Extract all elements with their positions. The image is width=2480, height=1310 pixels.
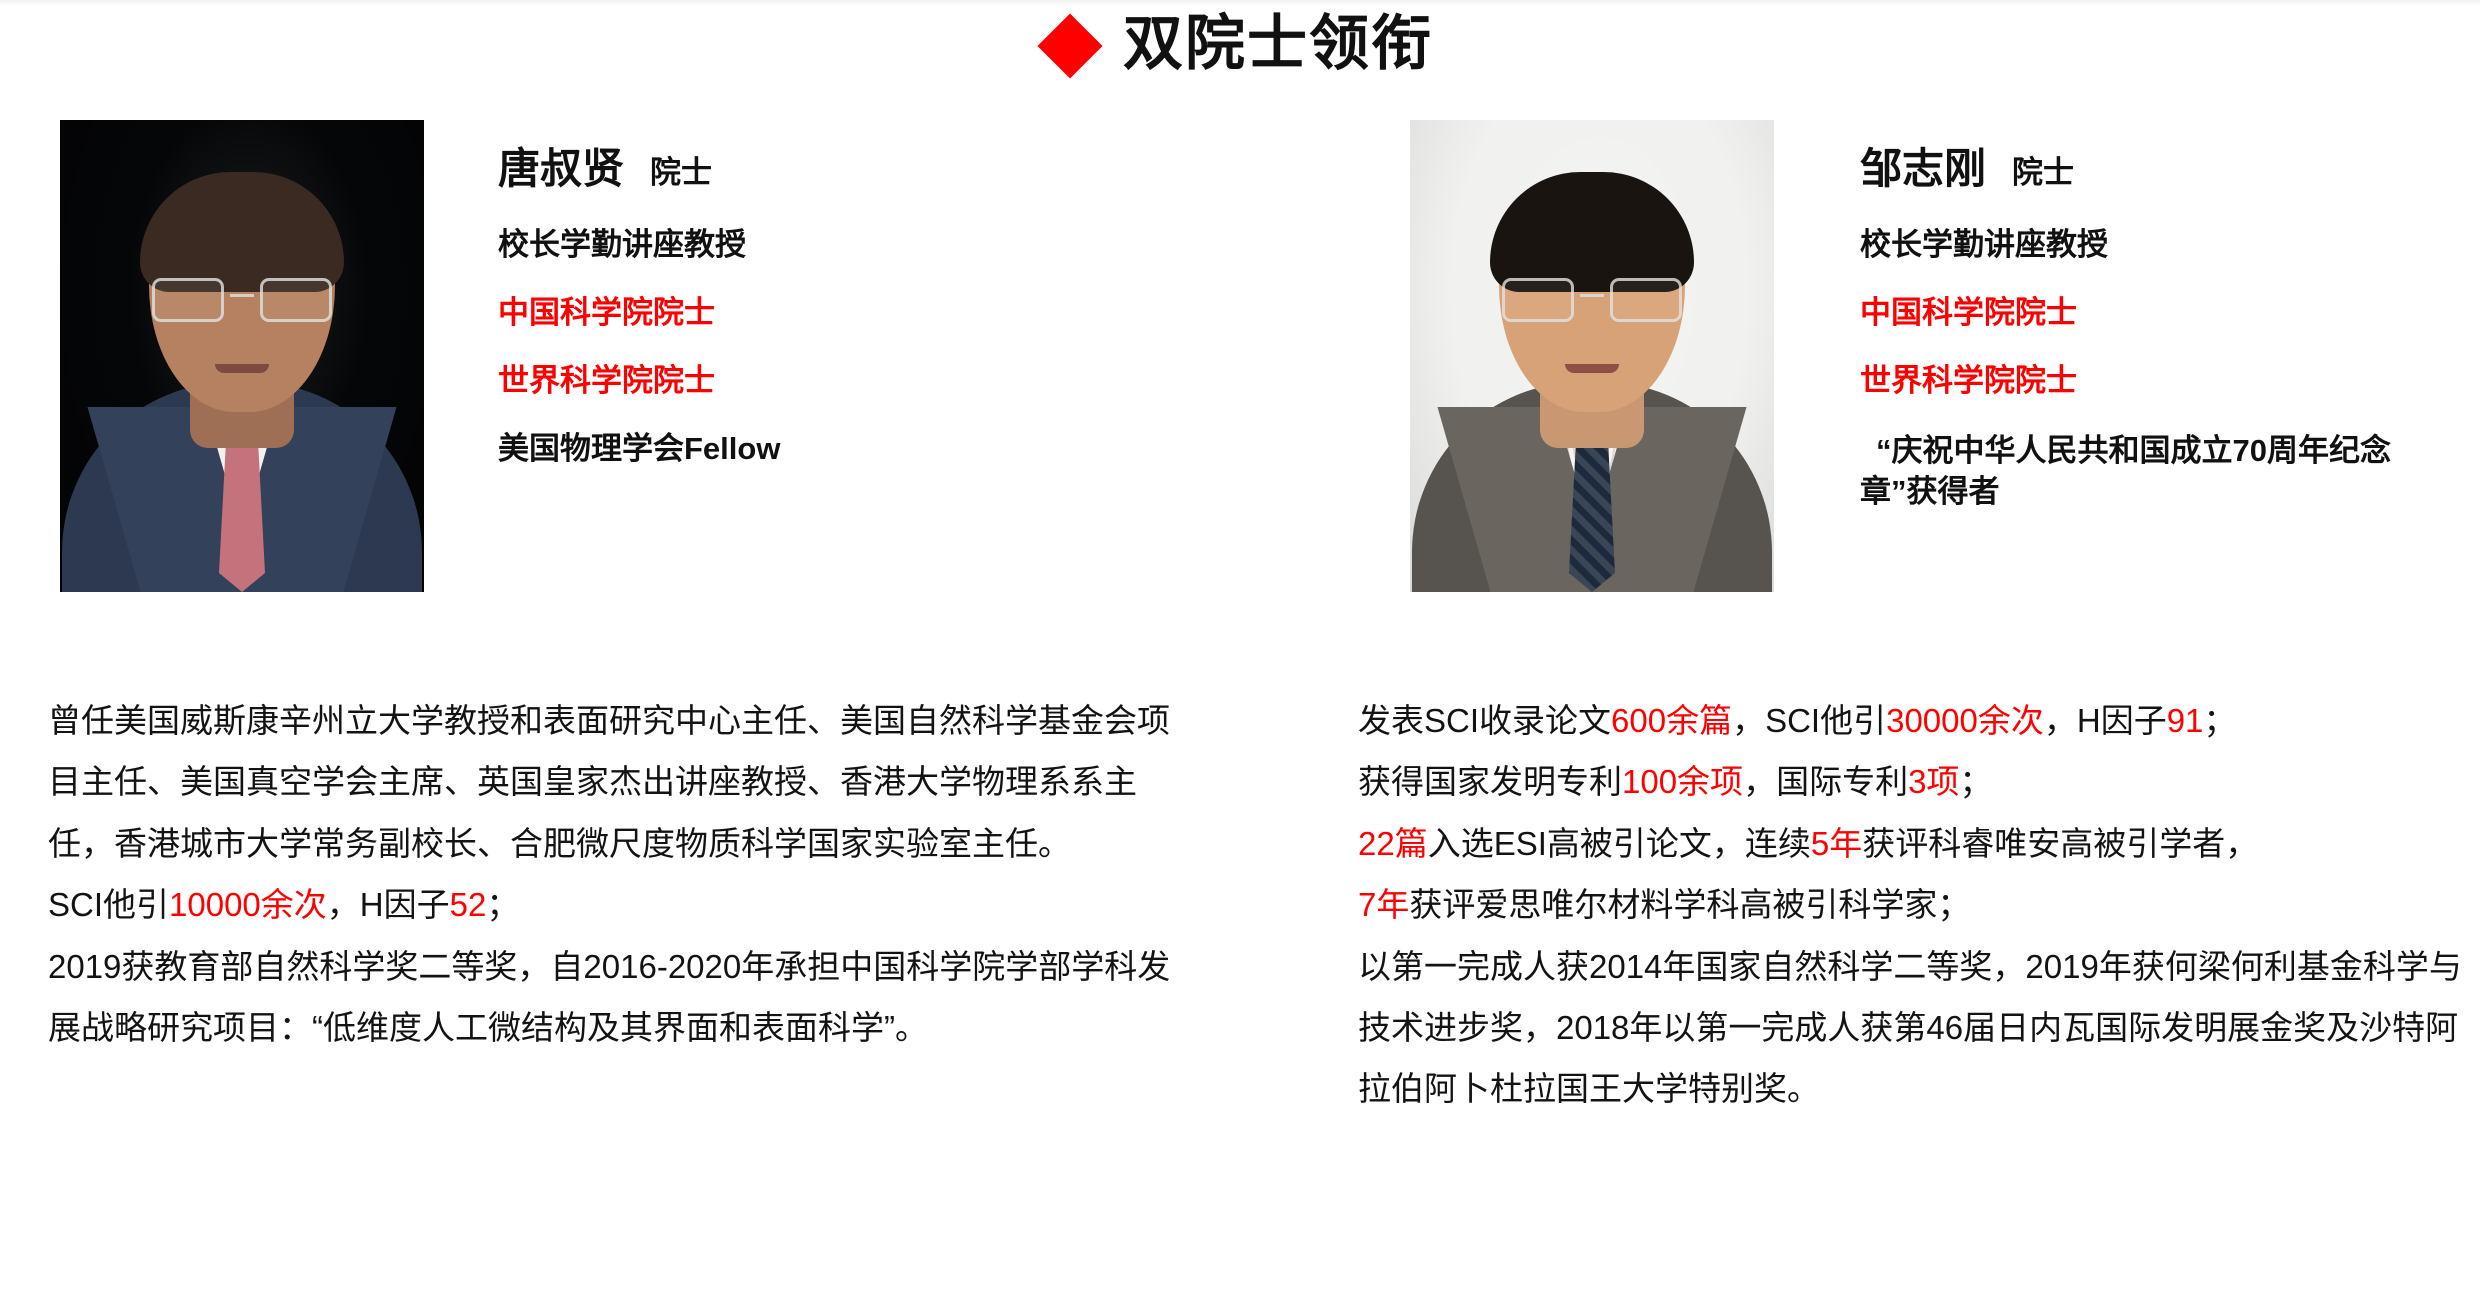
photo-necktie [1569, 434, 1615, 592]
bio-text-run: ，国际专利 [1743, 763, 1908, 800]
bio-text-run: 600余篇 [1611, 702, 1732, 739]
bio-text-run: 100余项 [1622, 763, 1743, 800]
bio-text-run: 获评爱思唯尔材料学科高被引科学家； [1409, 886, 1970, 923]
photo-glasses-icon [150, 278, 334, 318]
person-name: 唐叔贤 [498, 146, 624, 192]
bio-text-run: ，H因子 [2044, 702, 2167, 739]
red-diamond-icon [1037, 13, 1102, 78]
bio-paragraph: 以第一完成人获2014年国家自然科学二等奖，2019年获何梁何利基金科学与技术进… [1358, 936, 2478, 1120]
bio-text-run: SCI他引 [48, 886, 169, 923]
bio-paragraph: SCI他引10000余次，H因子52； [48, 874, 1178, 935]
credential-line: 美国物理学会Fellow [498, 430, 780, 468]
biography-tang: 曾任美国威斯康辛州立大学教授和表面研究中心主任、美国自然科学基金会项目主任、美国… [48, 690, 1178, 1058]
bio-text-run: ； [2203, 702, 2236, 739]
credential-line: 校长学勤讲座教授 [498, 226, 780, 264]
photo-lens-right [260, 278, 332, 322]
bio-text-run: 入选ESI高被引论文，连续 [1428, 825, 1811, 862]
person-name-row: 邹志刚 院士 [1860, 146, 2420, 192]
photo-mouth [1565, 364, 1619, 373]
bio-paragraph: 22篇入选ESI高被引论文，连续5年获评科睿唯安高被引学者， [1358, 813, 2478, 874]
photo-glasses-bridge [1580, 294, 1604, 297]
photo-lens-left [1502, 278, 1574, 322]
bio-text-run: 30000余次 [1886, 702, 2044, 739]
slide-header: 双院士领衔 [0, 14, 2480, 74]
bio-text-run: 22篇 [1358, 825, 1428, 862]
credentials-zou: 邹志刚 院士 校长学勤讲座教授 中国科学院院士 世界科学院院士 “庆祝中华人民共… [1774, 120, 2420, 513]
credential-line: 中国科学院院士 [498, 294, 780, 332]
slide-root: 双院士领衔 [0, 0, 2480, 1310]
credential-line: “庆祝中华人民共和国成立70周年纪念章”获得者 [1860, 430, 2420, 513]
bio-text-run: ； [1959, 763, 1992, 800]
photo-mouth [215, 364, 269, 373]
photo-glasses-icon [1500, 278, 1684, 318]
credential-line: 世界科学院院士 [1860, 362, 2420, 400]
person-column-right: 邹志刚 院士 校长学勤讲座教授 中国科学院院士 世界科学院院士 “庆祝中华人民共… [1410, 120, 2470, 592]
person-name: 邹志刚 [1860, 146, 1986, 192]
bio-text-run: 7年 [1358, 886, 1409, 923]
bio-text-run: 5年 [1811, 825, 1862, 862]
credential-line: 世界科学院院士 [498, 362, 780, 400]
bio-text-run: ； [486, 886, 519, 923]
bio-text-run: 曾任美国威斯康辛州立大学教授和表面研究中心主任、美国自然科学基金会项目主任、美国… [48, 702, 1170, 862]
biography-zou: 发表SCI收录论文600余篇，SCI他引30000余次，H因子91；获得国家发明… [1358, 690, 2478, 1120]
person-name-row: 唐叔贤 院士 [498, 146, 780, 192]
bio-text-run: 10000余次 [169, 886, 327, 923]
bio-text-run: 3项 [1908, 763, 1959, 800]
bio-text-run: ，H因子 [327, 886, 450, 923]
bio-text-run: 52 [450, 886, 487, 923]
portrait-photo-tang [60, 120, 424, 592]
person-name-suffix: 院士 [650, 156, 712, 190]
profile-card-zou: 邹志刚 院士 校长学勤讲座教授 中国科学院院士 世界科学院院士 “庆祝中华人民共… [1410, 120, 2470, 592]
bio-text-run: 获评科睿唯安高被引学者， [1862, 825, 2258, 862]
bio-text-run: ，SCI他引 [1732, 702, 1886, 739]
page-title: 双院士领衔 [1123, 14, 1433, 74]
bio-paragraph: 获得国家发明专利100余项，国际专利3项； [1358, 751, 2478, 812]
credential-line: 中国科学院院士 [1860, 294, 2420, 332]
photo-lens-left [152, 278, 224, 322]
bio-text-run: 发表SCI收录论文 [1358, 702, 1611, 739]
photo-lens-right [1610, 278, 1682, 322]
profile-card-tang: 唐叔贤 院士 校长学勤讲座教授 中国科学院院士 世界科学院院士 美国物理学会Fe… [60, 120, 1260, 592]
bio-paragraph: 7年获评爱思唯尔材料学科高被引科学家； [1358, 874, 2478, 935]
bio-text-run: 91 [2167, 702, 2204, 739]
person-name-suffix: 院士 [2012, 156, 2074, 190]
photo-glasses-bridge [230, 294, 254, 297]
top-edge-strip [0, 0, 2480, 6]
person-column-left: 唐叔贤 院士 校长学勤讲座教授 中国科学院院士 世界科学院院士 美国物理学会Fe… [60, 120, 1260, 592]
bio-text-run: 以第一完成人获2014年国家自然科学二等奖，2019年获何梁何利基金科学与技术进… [1358, 948, 2462, 1108]
bio-text-run: 获得国家发明专利 [1358, 763, 1622, 800]
credential-line: 校长学勤讲座教授 [1860, 226, 2420, 264]
bio-paragraph: 曾任美国威斯康辛州立大学教授和表面研究中心主任、美国自然科学基金会项目主任、美国… [48, 690, 1178, 874]
photo-necktie [219, 434, 265, 592]
credentials-tang: 唐叔贤 院士 校长学勤讲座教授 中国科学院院士 世界科学院院士 美国物理学会Fe… [424, 120, 780, 467]
portrait-photo-zou [1410, 120, 1774, 592]
bio-text-run: 2019获教育部自然科学奖二等奖，自2016-2020年承担中国科学院学部学科发… [48, 948, 1170, 1046]
bio-paragraph: 2019获教育部自然科学奖二等奖，自2016-2020年承担中国科学院学部学科发… [48, 936, 1178, 1059]
bio-paragraph: 发表SCI收录论文600余篇，SCI他引30000余次，H因子91； [1358, 690, 2478, 751]
